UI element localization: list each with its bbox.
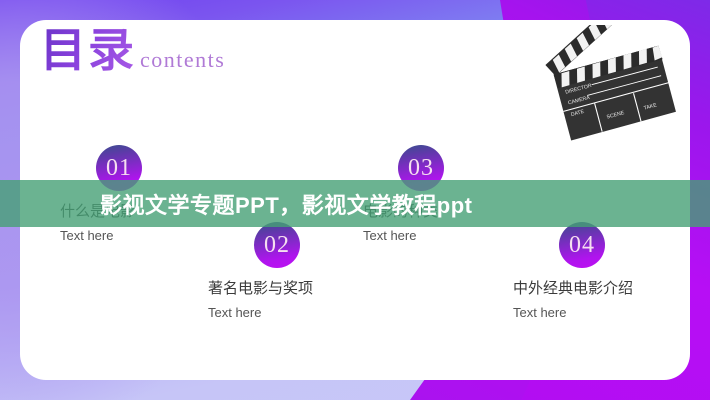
slide-canvas: 目录 contents PRODUCTION DIRECTOR CAMERA D… <box>0 0 710 400</box>
item-title: 中外经典电影介绍 <box>513 277 633 298</box>
item-title: 著名电影与奖项 <box>208 277 313 298</box>
item-subtitle: Text here <box>363 228 444 243</box>
item-number-badge: 04 <box>559 222 605 268</box>
contents-item-02[interactable]: 02 著名电影与奖项 Text here <box>208 222 313 320</box>
overlay-banner-text: 影视文学专题PPT，影视文学教程ppt <box>0 180 710 227</box>
item-subtitle: Text here <box>60 228 142 243</box>
item-subtitle: Text here <box>513 305 633 320</box>
page-title-en: contents <box>140 49 225 74</box>
clapperboard-icon: PRODUCTION DIRECTOR CAMERA DATE STUDIO S… <box>540 25 690 145</box>
contents-item-04[interactable]: 04 中外经典电影介绍 Text here <box>513 222 633 320</box>
page-title: 目录 contents <box>40 28 225 74</box>
item-subtitle: Text here <box>208 305 313 320</box>
page-title-cn: 目录 <box>40 28 136 74</box>
item-number-badge: 02 <box>254 222 300 268</box>
